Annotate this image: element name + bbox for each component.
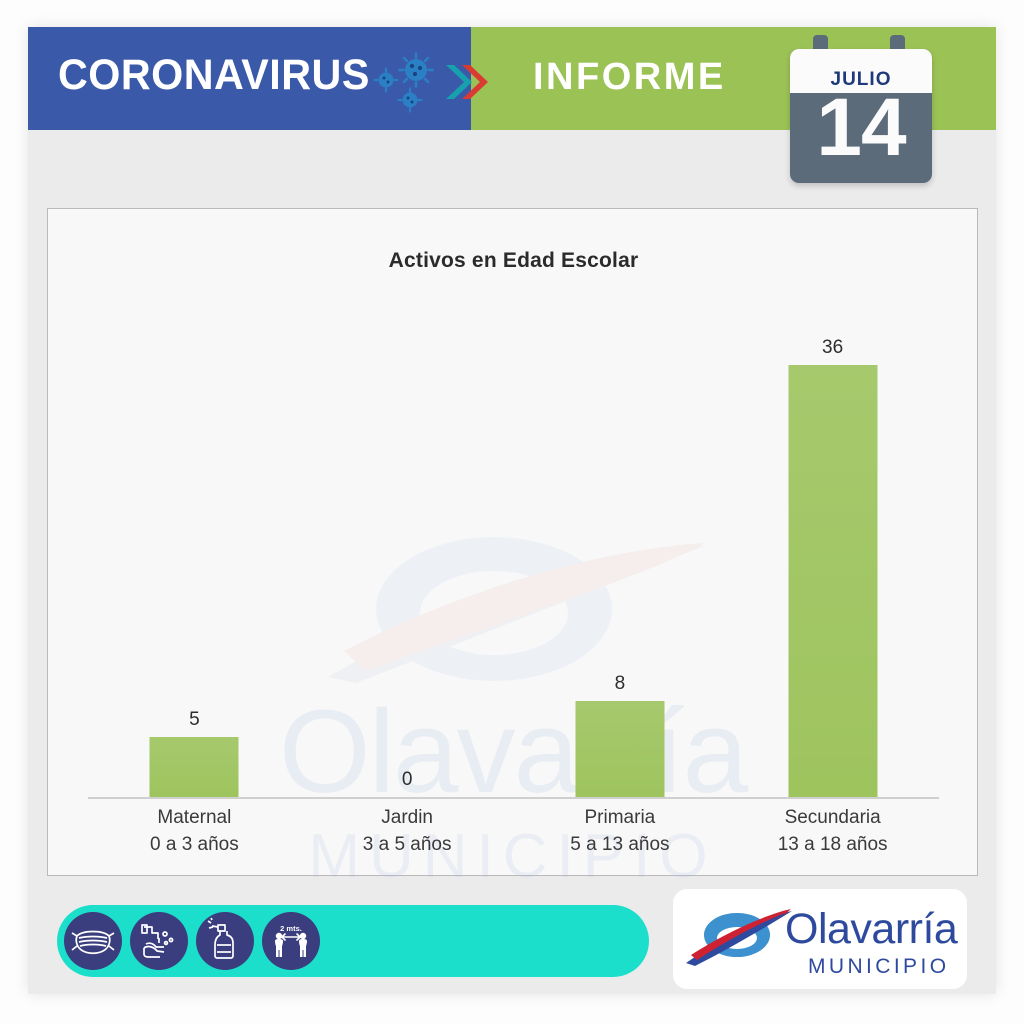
bar-secundaria[interactable] <box>788 365 877 797</box>
x-axis-line <box>88 797 939 799</box>
x-label-secundaria: Secundaria 13 a 18 años <box>726 807 939 856</box>
olavarria-emblem-icon <box>685 905 795 969</box>
bar-value-maternal: 5 <box>189 709 200 731</box>
x-label-range: 5 a 13 años <box>514 834 727 856</box>
bar-group-jardin: 0 <box>301 269 514 797</box>
poster-footer: 2 mts. <box>28 889 996 994</box>
x-label-range: 3 a 5 años <box>301 834 514 856</box>
x-label-range: 0 a 3 años <box>88 834 301 856</box>
bar-group-maternal: 5 <box>88 269 301 797</box>
face-mask-icon <box>64 912 122 970</box>
bar-value-secundaria: 36 <box>822 337 843 359</box>
logo-name: Olavarría <box>785 905 957 954</box>
poster-card: CORONAVIRUS <box>28 27 996 994</box>
logo-subtitle: MUNICIPIO <box>808 955 949 979</box>
bar-group-secundaria: 36 <box>726 269 939 797</box>
x-label-primaria: Primaria 5 a 13 años <box>514 807 727 856</box>
report-label: INFORME <box>533 56 726 99</box>
page-title: CORONAVIRUS <box>58 51 370 100</box>
bar-primaria[interactable] <box>575 701 664 797</box>
bar-value-jardin: 0 <box>402 769 413 791</box>
social-distancing-icon: 2 mts. <box>262 912 320 970</box>
plot-area: 5 0 8 36 <box>88 269 939 799</box>
calendar-day: 14 <box>790 87 932 169</box>
olavarria-logo: Olavarría MUNICIPIO <box>673 889 967 989</box>
double-chevron-icon <box>444 63 490 101</box>
sanitizer-spray-icon <box>196 912 254 970</box>
x-label-name: Jardin <box>301 807 514 829</box>
coronavirus-report-poster: CORONAVIRUS <box>0 0 1024 1024</box>
calendar-icon: JULIO 14 <box>780 30 940 190</box>
x-label-name: Secundaria <box>726 807 939 829</box>
hand-washing-icon <box>130 912 188 970</box>
x-label-name: Primaria <box>514 807 727 829</box>
virus-cluster-icon <box>373 49 445 115</box>
x-label-jardin: Jardin 3 a 5 años <box>301 807 514 856</box>
bar-group-primaria: 8 <box>514 269 727 797</box>
svg-text:2 mts.: 2 mts. <box>280 924 302 933</box>
x-label-range: 13 a 18 años <box>726 834 939 856</box>
bar-maternal[interactable] <box>150 737 239 797</box>
bar-value-primaria: 8 <box>615 673 626 695</box>
poster-header: CORONAVIRUS <box>28 27 996 130</box>
x-label-name: Maternal <box>88 807 301 829</box>
x-axis-labels: Maternal 0 a 3 años Jardin 3 a 5 años Pr… <box>88 807 939 873</box>
prevention-measures-bar: 2 mts. <box>57 905 649 977</box>
x-label-maternal: Maternal 0 a 3 años <box>88 807 301 856</box>
chart-panel: Activos en Edad Escolar Olavarría MUNICI… <box>47 208 978 876</box>
calendar-body: JULIO 14 <box>790 49 932 183</box>
